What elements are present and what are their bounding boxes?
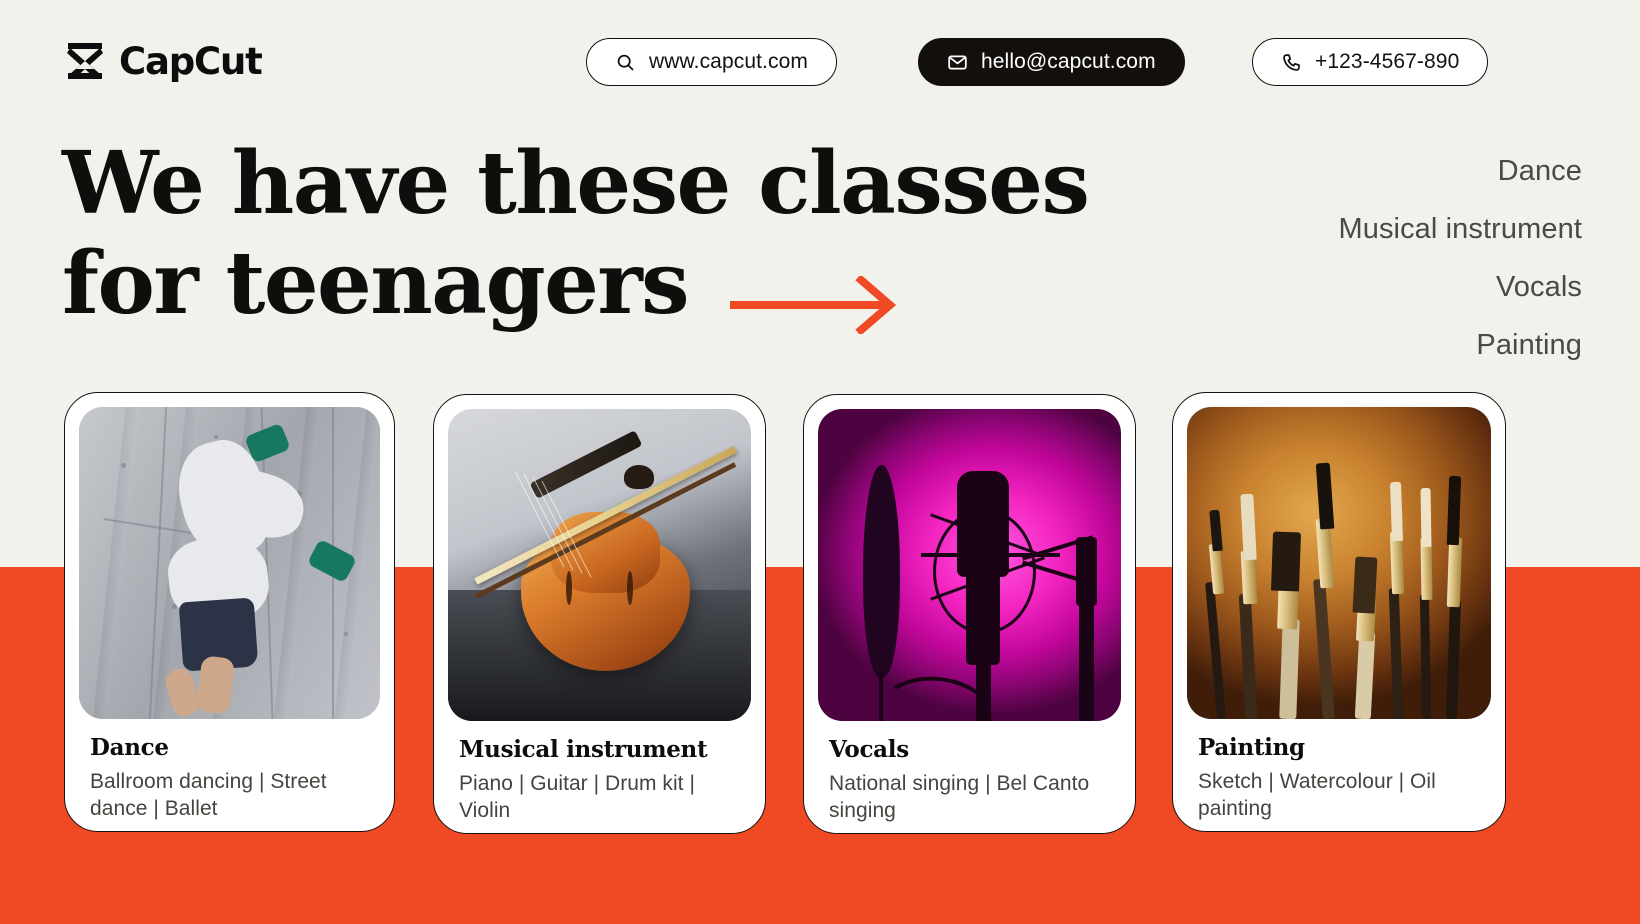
- phone-label: +123-4567-890: [1315, 50, 1459, 74]
- microphone-photo: [818, 409, 1121, 721]
- card-body: Dance Ballroom dancing | Street dance | …: [79, 719, 380, 823]
- card-title: Musical instrument: [459, 737, 740, 762]
- page-title: We have these classes for teenagers: [62, 134, 1172, 334]
- card-description: Piano | Guitar | Drum kit | Violin: [459, 771, 740, 825]
- page-header: CapCut www.capcut.com hello@capcut.com +…: [0, 0, 1640, 124]
- violin-photo: [448, 409, 751, 721]
- card-title: Painting: [1198, 735, 1480, 760]
- category-nav-item-musical[interactable]: Musical instrument: [1338, 200, 1582, 258]
- mail-icon: [947, 52, 968, 73]
- website-label: www.capcut.com: [649, 50, 808, 74]
- card-body: Vocals National singing | Bel Canto sing…: [818, 721, 1121, 825]
- category-nav-item-painting[interactable]: Painting: [1338, 316, 1582, 374]
- headline-line-2: for teenagers: [62, 234, 1172, 334]
- breakdancer-photo: [79, 407, 380, 719]
- paintbrushes-photo: [1187, 407, 1491, 719]
- phone-pill[interactable]: +123-4567-890: [1252, 38, 1488, 86]
- category-nav-item-vocals[interactable]: Vocals: [1338, 258, 1582, 316]
- class-card-dance[interactable]: Dance Ballroom dancing | Street dance | …: [64, 392, 395, 832]
- brand-name: CapCut: [119, 43, 262, 80]
- website-pill[interactable]: www.capcut.com: [586, 38, 837, 86]
- category-nav: Dance Musical instrument Vocals Painting: [1338, 142, 1582, 374]
- category-nav-item-dance[interactable]: Dance: [1338, 142, 1582, 200]
- class-card-vocals[interactable]: Vocals National singing | Bel Canto sing…: [803, 394, 1136, 834]
- brand-logo[interactable]: CapCut: [62, 38, 262, 84]
- card-description: Ballroom dancing | Street dance | Ballet: [90, 769, 369, 823]
- card-title: Dance: [90, 735, 369, 760]
- capcut-logo-icon: [62, 38, 108, 84]
- headline-line-1: We have these classes: [62, 134, 1172, 234]
- class-card-musical-instrument[interactable]: Musical instrument Piano | Guitar | Drum…: [433, 394, 766, 834]
- card-title: Vocals: [829, 737, 1110, 762]
- card-body: Painting Sketch | Watercolour | Oil pain…: [1187, 719, 1491, 823]
- class-card-painting[interactable]: Painting Sketch | Watercolour | Oil pain…: [1172, 392, 1506, 832]
- email-pill[interactable]: hello@capcut.com: [918, 38, 1185, 86]
- card-description: National singing | Bel Canto singing: [829, 771, 1110, 825]
- card-body: Musical instrument Piano | Guitar | Drum…: [448, 721, 751, 825]
- card-description: Sketch | Watercolour | Oil painting: [1198, 769, 1480, 823]
- arrow-right-icon[interactable]: [730, 276, 900, 339]
- phone-icon: [1281, 52, 1302, 73]
- email-label: hello@capcut.com: [981, 50, 1156, 74]
- search-icon: [615, 52, 636, 73]
